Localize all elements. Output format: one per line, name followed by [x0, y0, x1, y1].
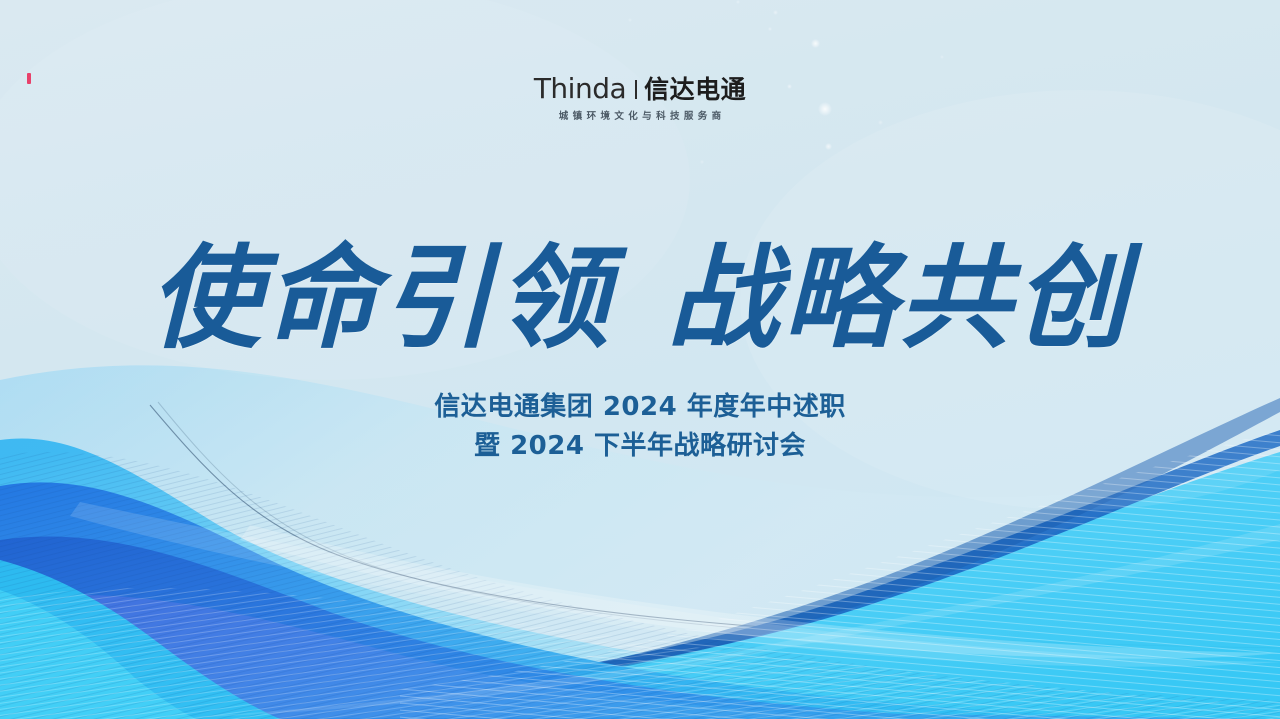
logo-chinese-name: 信达电通	[644, 77, 746, 102]
logo-divider	[635, 80, 637, 99]
slide-headline: 使命引领战略共创	[0, 236, 1280, 361]
slide-subtitle: 信达电通集团 2024 年度年中述职 暨 2024 下半年战略研讨会	[0, 388, 1280, 466]
logo-row: Thinda 信达电通	[534, 74, 746, 104]
presentation-slide: Thinda 信达电通 城镇环境文化与科技服务商 使命引领战略共创 信达电通集团…	[0, 0, 1280, 719]
logo-accent-dot-icon	[27, 73, 31, 84]
subtitle-line-two: 暨 2024 下半年战略研讨会	[0, 427, 1280, 466]
logo-wordmark: Thinda	[534, 75, 626, 103]
headline-part-one: 使命引领	[149, 233, 613, 364]
company-logo: Thinda 信达电通 城镇环境文化与科技服务商	[0, 74, 1280, 122]
subtitle-line-one: 信达电通集团 2024 年度年中述职	[0, 388, 1280, 427]
headline-part-two: 战略共创	[667, 233, 1131, 364]
logo-tagline: 城镇环境文化与科技服务商	[554, 112, 725, 122]
